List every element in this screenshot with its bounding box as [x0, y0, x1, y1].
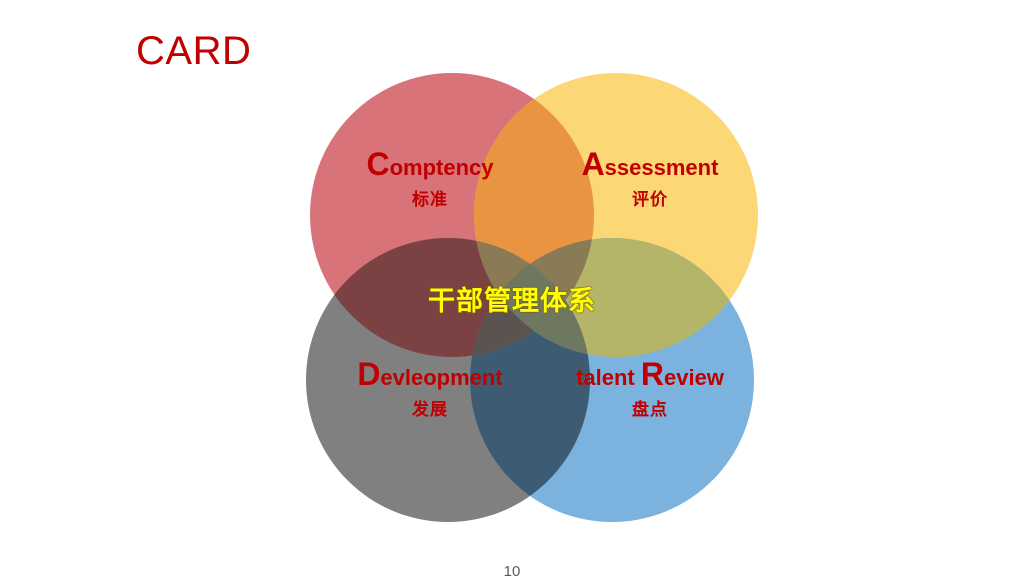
venn-diagram	[300, 55, 770, 540]
page-title: CARD	[136, 29, 251, 73]
page-number: 10	[0, 563, 1024, 580]
slide-canvas: CARD	[0, 0, 1024, 576]
venn-circles-graphic	[300, 55, 770, 540]
